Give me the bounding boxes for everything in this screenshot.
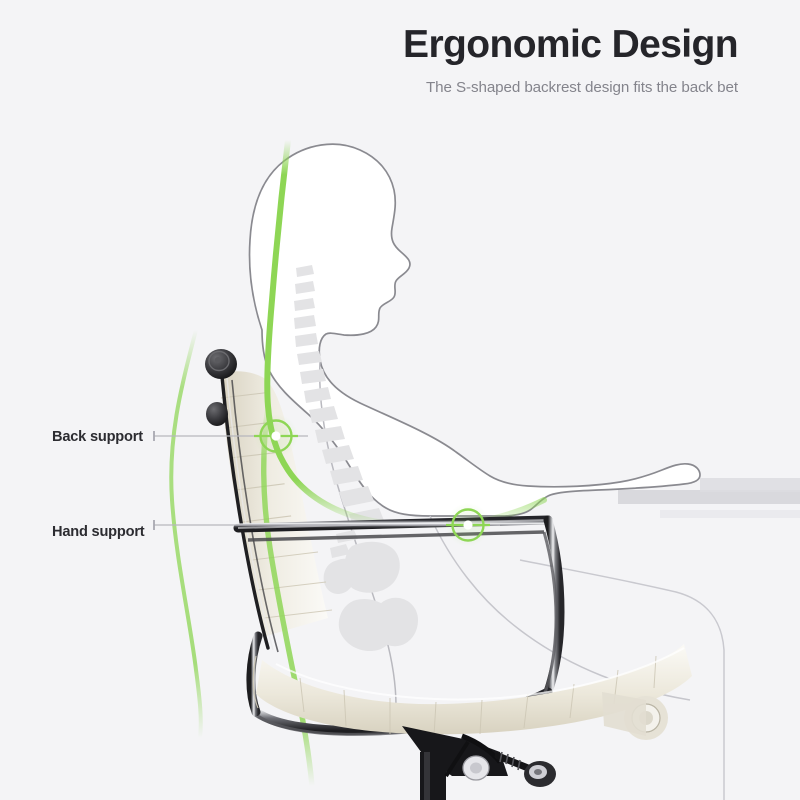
marker-hand-support[interactable]: [446, 503, 490, 547]
secondary-s-curve: [171, 330, 201, 738]
callout-label-hand-support: Hand support: [52, 524, 144, 540]
marker-back-support[interactable]: [254, 414, 298, 458]
chair-illustration: [0, 0, 800, 800]
tilt-mechanism: [402, 726, 556, 800]
tension-adjust-knob: [498, 752, 556, 787]
chair-caster-wheel: [602, 692, 668, 740]
callout-label-back-support: Back support: [52, 429, 143, 445]
infographic-canvas: Ergonomic Design The S-shaped backrest d…: [0, 0, 800, 800]
